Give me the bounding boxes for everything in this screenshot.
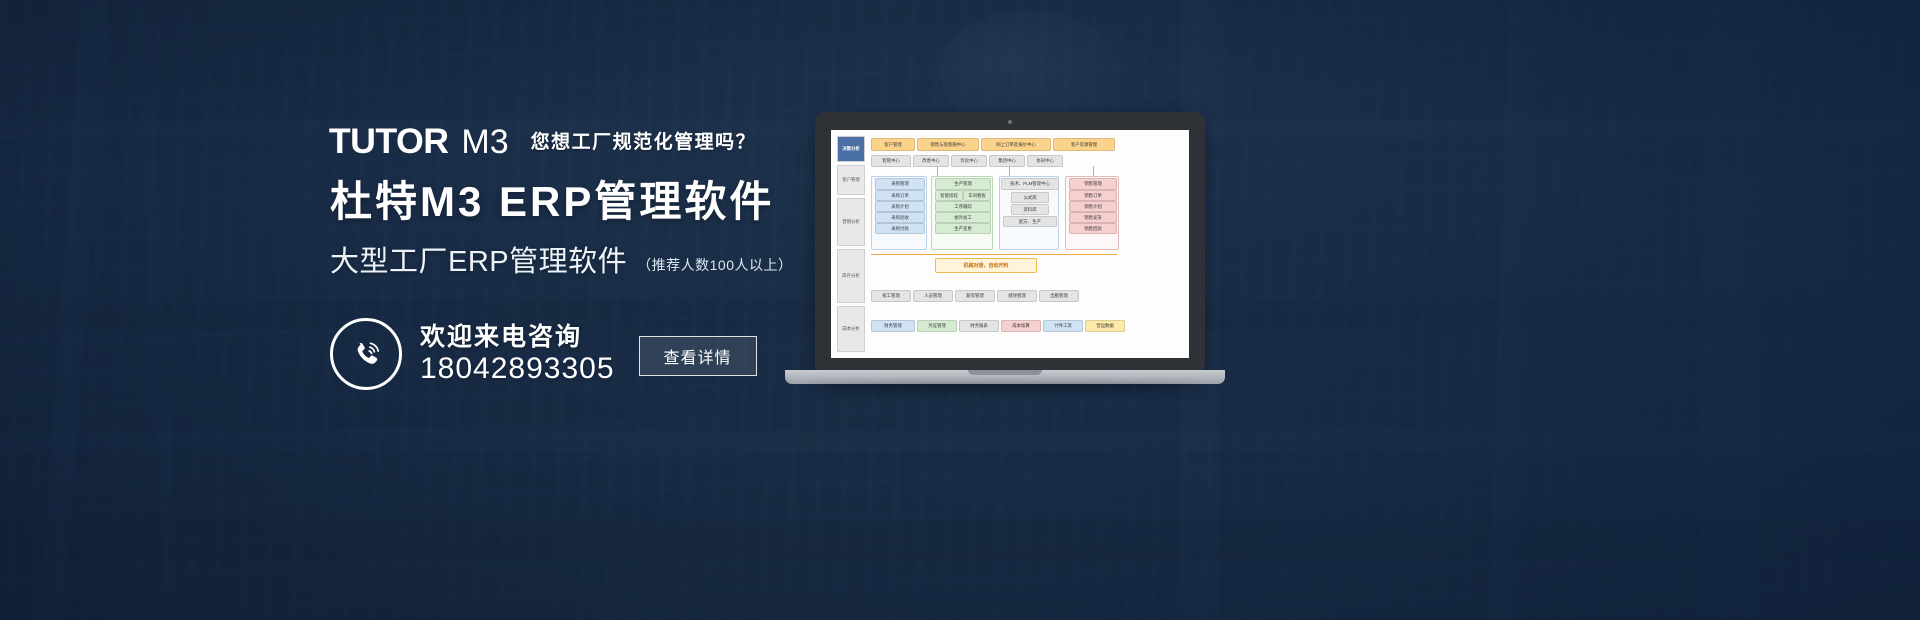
erp-chip: 出勤管理 bbox=[1039, 290, 1079, 302]
erp-chip: 按工管理 bbox=[871, 290, 911, 302]
hero-banner: TUTOR M3 您想工厂规范化管理吗？ 杜特M3 ERP管理软件 大型工厂ER… bbox=[0, 0, 1920, 620]
view-details-button[interactable]: 查看详情 bbox=[639, 336, 757, 376]
laptop-screen: 决策分析 客户管理 营销分析 库存分析 成本分析 客户管理 销售与盘客服中心 网… bbox=[831, 130, 1189, 358]
erp-diagram: 决策分析 客户管理 营销分析 库存分析 成本分析 客户管理 销售与盘客服中心 网… bbox=[831, 130, 1189, 358]
erp-chip: 财务报表 bbox=[959, 320, 999, 332]
laptop-lid: 决策分析 客户管理 营销分析 库存分析 成本分析 客户管理 销售与盘客服中心 网… bbox=[815, 112, 1205, 374]
brand-tagline: 您想工厂规范化管理吗？ bbox=[531, 126, 757, 160]
erp-chip: 采购计划 bbox=[875, 201, 925, 212]
erp-chip: 客户管理 bbox=[871, 138, 915, 151]
erp-chip: 生产变更 bbox=[935, 223, 991, 234]
erp-left-cell: 成本分析 bbox=[837, 306, 865, 352]
erp-chip: 改善中心 bbox=[913, 155, 949, 167]
erp-chip: 营运数据 bbox=[1085, 320, 1125, 332]
erp-chip: 薪资管理 bbox=[955, 290, 995, 302]
erp-chip: 车间看板 bbox=[963, 190, 991, 201]
contact-row: 欢迎来电咨询 18042893305 查看详情 bbox=[330, 318, 757, 390]
erp-left-cell: 客户管理 bbox=[837, 165, 865, 195]
erp-chip: 集团中心 bbox=[989, 155, 1025, 167]
erp-left-cell: 营销分析 bbox=[837, 198, 865, 246]
erp-chip: 智能排程 bbox=[935, 190, 963, 201]
erp-chip: 网上订单及报价中心 bbox=[981, 138, 1051, 151]
brand-logo-m3: M3 bbox=[461, 124, 508, 160]
erp-chip: 工序跟踪 bbox=[935, 201, 991, 212]
erp-chip: 公式库 bbox=[1011, 192, 1049, 203]
erp-group-title: 技术、PLM管理中心 bbox=[1001, 178, 1059, 190]
erp-group-title: 销售管理 bbox=[1069, 178, 1117, 190]
erp-chip: 委外加工 bbox=[935, 212, 991, 223]
erp-connector bbox=[937, 166, 938, 176]
erp-chip: 销售发货 bbox=[1069, 212, 1117, 223]
erp-chip: 采购付款 bbox=[875, 223, 925, 234]
erp-chip: 资料库 bbox=[1011, 204, 1049, 215]
banner-content: TUTOR M3 您想工厂规范化管理吗？ 杜特M3 ERP管理软件 大型工厂ER… bbox=[0, 0, 1920, 620]
webcam-icon bbox=[1008, 120, 1012, 124]
laptop-mockup: 决策分析 客户管理 营销分析 库存分析 成本分析 客户管理 销售与盘客服中心 网… bbox=[785, 112, 1225, 397]
brand-logo-tutor: TUTOR bbox=[329, 124, 449, 160]
laptop-base bbox=[785, 370, 1225, 384]
erp-chip: 采购订单 bbox=[875, 190, 925, 201]
erp-chip: 凭证管理 bbox=[917, 320, 957, 332]
erp-chip: 销售回款 bbox=[1069, 223, 1117, 234]
subtitle-row: 大型工厂ERP管理软件 （推荐人数100人以上） bbox=[330, 242, 850, 282]
erp-chip: 配方、生产 bbox=[1003, 216, 1057, 227]
erp-chip: 智管中心 bbox=[871, 155, 911, 167]
contact-label: 欢迎来电咨询 bbox=[420, 322, 615, 352]
erp-chip: 计件工资 bbox=[1043, 320, 1083, 332]
headline-block: TUTOR M3 您想工厂规范化管理吗？ 杜特M3 ERP管理软件 大型工厂ER… bbox=[330, 118, 850, 282]
erp-chip: 采购验收 bbox=[875, 212, 925, 223]
erp-highlight-banner: 机械对接，自动开料 bbox=[935, 258, 1037, 273]
erp-chip: 销售订单 bbox=[1069, 190, 1117, 201]
phone-call-icon bbox=[330, 318, 402, 390]
erp-connector bbox=[871, 254, 1117, 255]
erp-chip: 人员管理 bbox=[913, 290, 953, 302]
erp-group-title: 采购管理 bbox=[875, 178, 925, 190]
subtitle: 大型工厂ERP管理软件 bbox=[330, 242, 627, 282]
erp-chip: 协同中心 bbox=[1027, 155, 1063, 167]
erp-connector bbox=[1009, 166, 1010, 176]
erp-group-title: 生产管理 bbox=[935, 178, 991, 190]
contact-text: 欢迎来电咨询 18042893305 bbox=[420, 322, 615, 386]
erp-chip: 销售计划 bbox=[1069, 201, 1117, 212]
laptop-shadow bbox=[809, 384, 1201, 391]
erp-chip: 绩效管理 bbox=[997, 290, 1037, 302]
brand-row: TUTOR M3 您想工厂规范化管理吗？ bbox=[330, 118, 850, 160]
erp-connector bbox=[1093, 166, 1094, 176]
erp-chip: 成本核算 bbox=[1001, 320, 1041, 332]
page-title: 杜特M3 ERP管理软件 bbox=[330, 174, 850, 230]
contact-number: 18042893305 bbox=[420, 352, 615, 386]
erp-chip: 优化中心 bbox=[951, 155, 987, 167]
erp-left-cell: 决策分析 bbox=[837, 136, 865, 162]
erp-chip: 销售与盘客服中心 bbox=[917, 138, 979, 151]
erp-left-cell: 库存分析 bbox=[837, 249, 865, 303]
subtitle-note: （推荐人数100人以上） bbox=[637, 248, 792, 282]
erp-chip: 客户资源管理 bbox=[1053, 138, 1115, 151]
erp-left-column: 决策分析 客户管理 营销分析 库存分析 成本分析 bbox=[837, 136, 863, 352]
erp-chip: 财务管理 bbox=[871, 320, 915, 332]
